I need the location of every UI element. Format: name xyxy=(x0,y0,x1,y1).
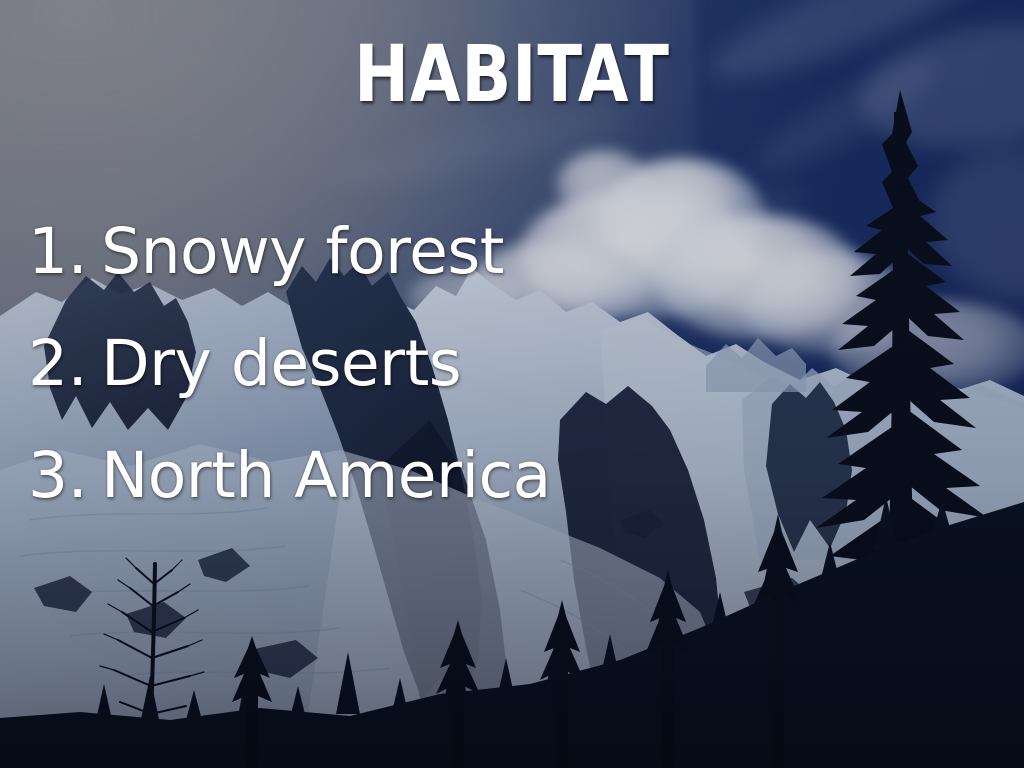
list-item-label: Snowy forest xyxy=(101,215,504,288)
list-item-number: 2. xyxy=(28,327,87,400)
list-item-number: 3. xyxy=(28,439,87,512)
habitat-list: 1.Snowy forest 2.Dry deserts 3.North Ame… xyxy=(28,196,551,532)
list-item: 2.Dry deserts xyxy=(28,308,551,420)
list-item-number: 1. xyxy=(28,215,87,288)
presentation-slide: HABITAT 1.Snowy forest 2.Dry deserts 3.N… xyxy=(0,0,1024,768)
list-item-label: Dry deserts xyxy=(101,327,461,400)
slide-title: HABITAT xyxy=(82,36,942,114)
list-item: 1.Snowy forest xyxy=(28,196,551,308)
list-item-label: North America xyxy=(101,439,551,512)
slide-content: HABITAT 1.Snowy forest 2.Dry deserts 3.N… xyxy=(0,0,1024,768)
list-item: 3.North America xyxy=(28,420,551,532)
